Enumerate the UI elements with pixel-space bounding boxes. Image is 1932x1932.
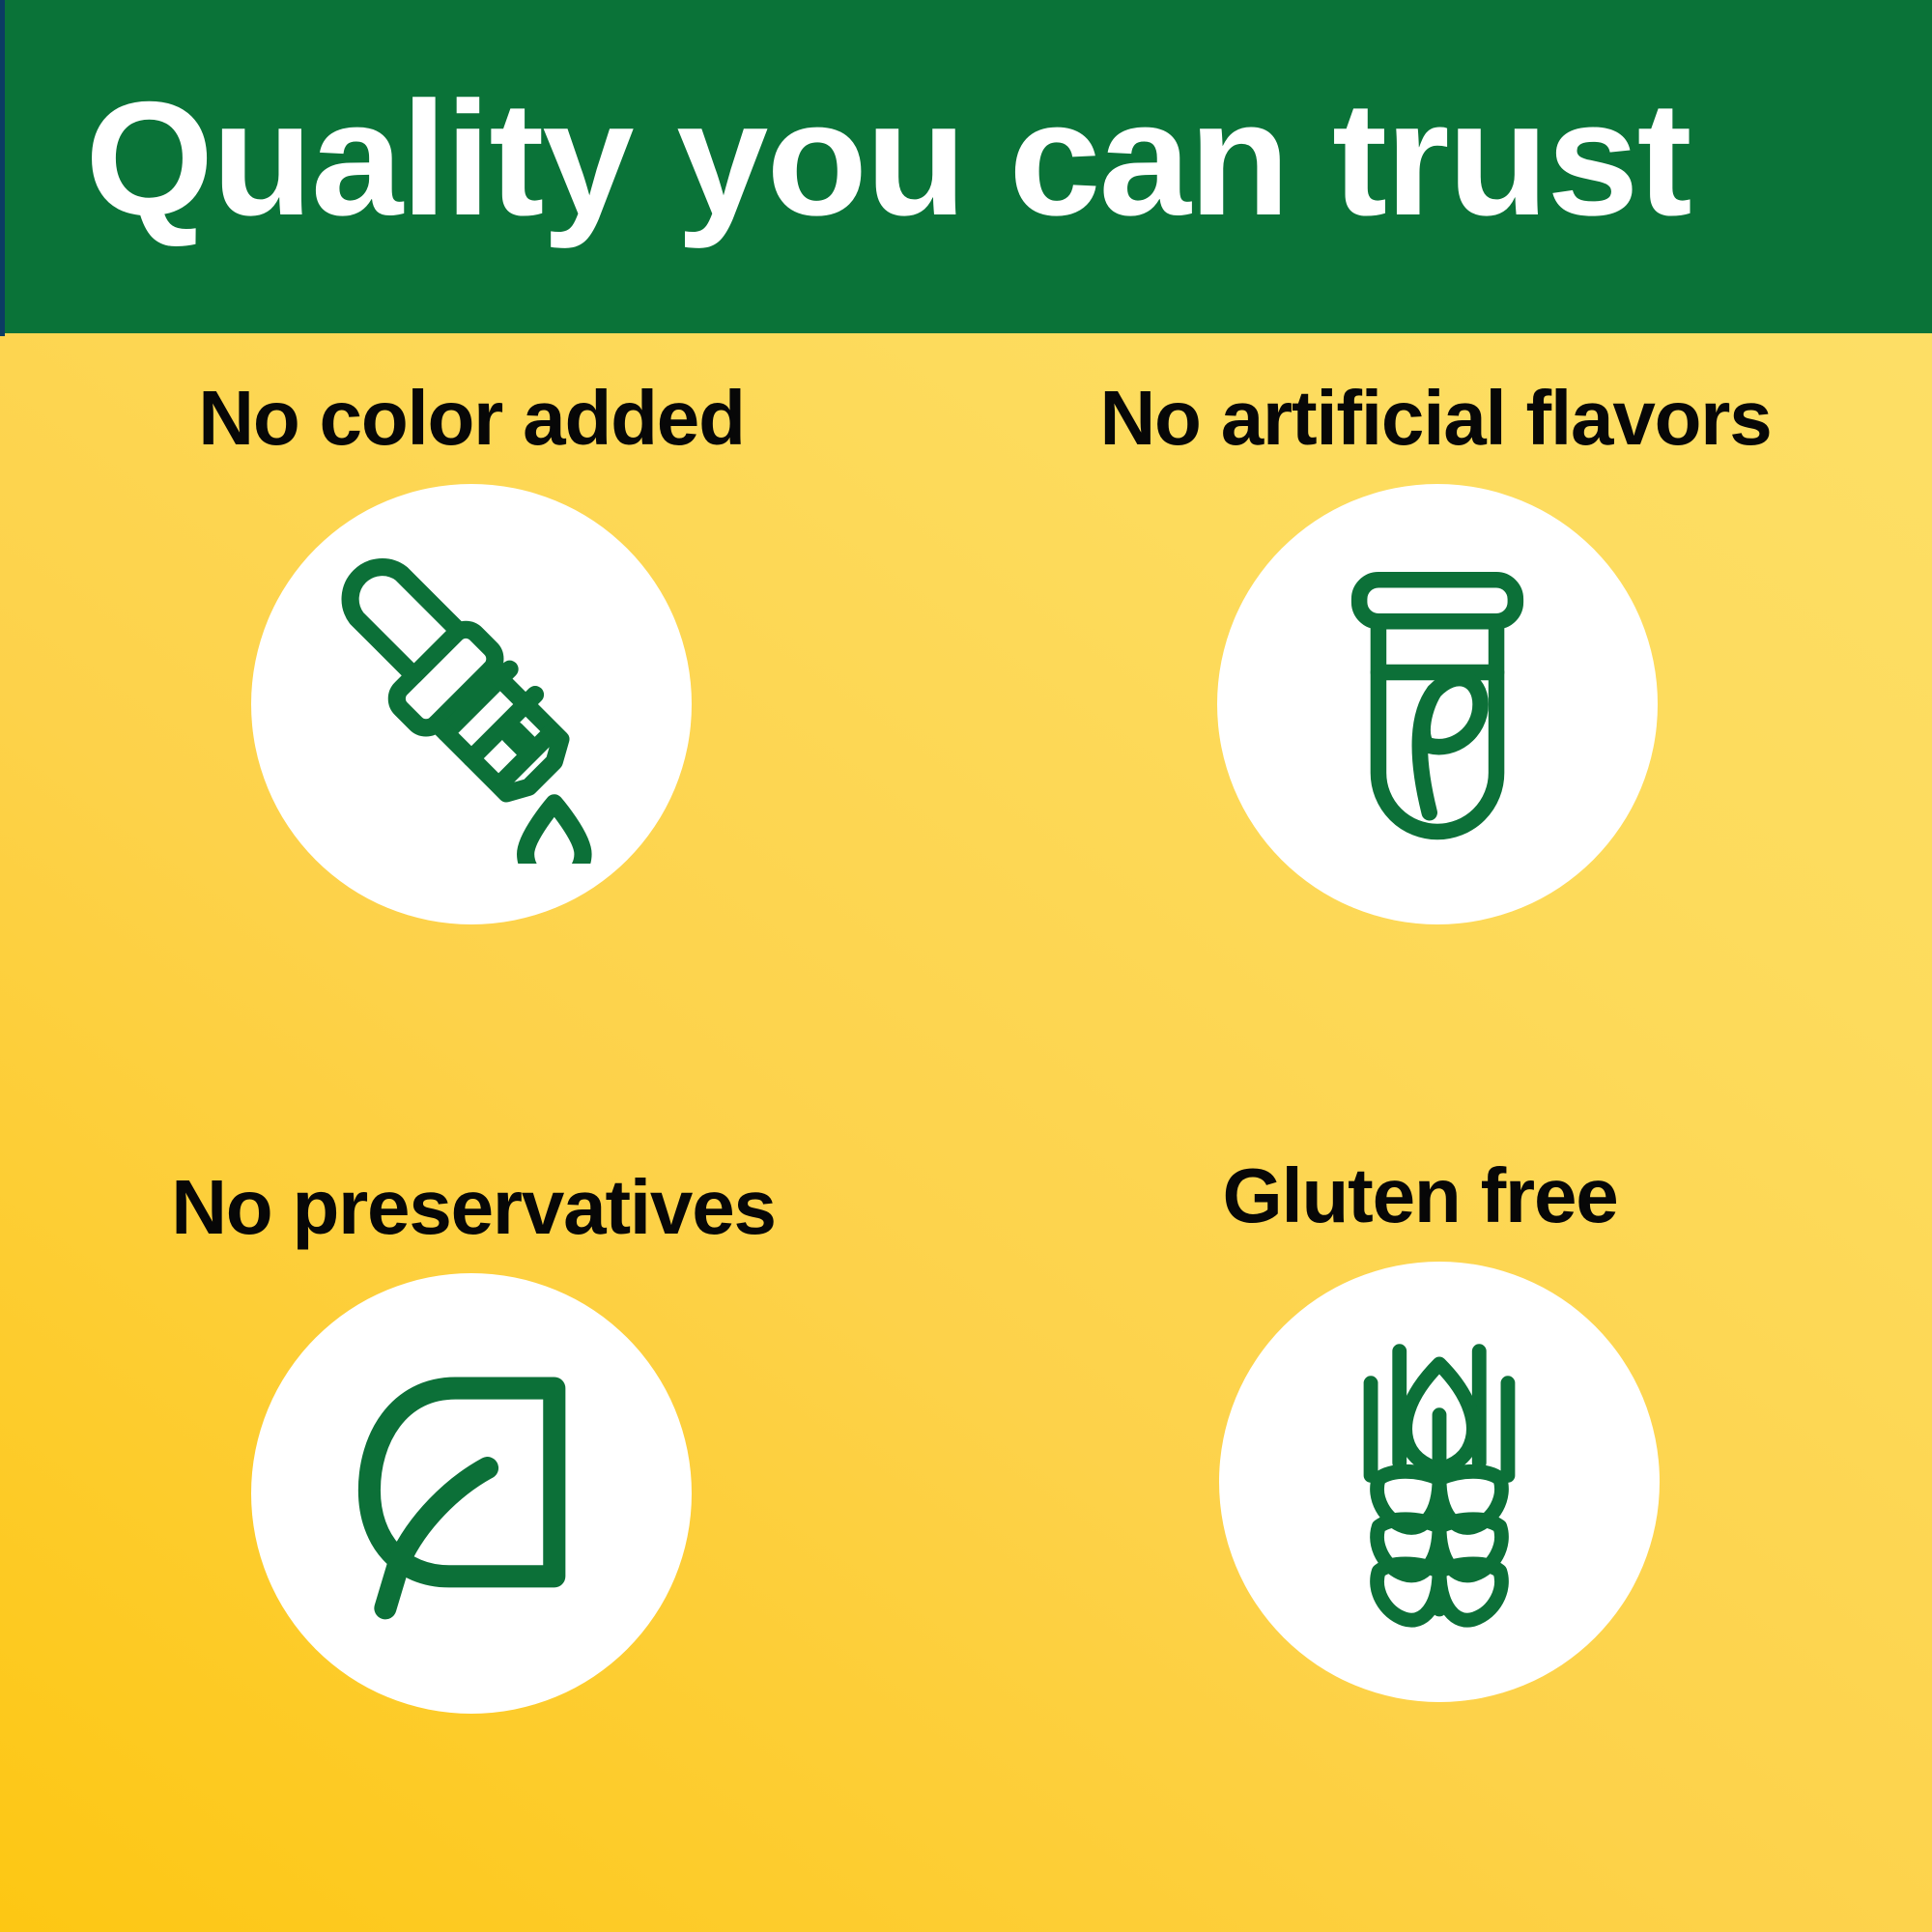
- badge-label-no-preservatives: No preservatives: [171, 1169, 776, 1246]
- wheat-stalk-icon: [1280, 1322, 1599, 1641]
- badge-no-preservatives: No preservatives: [0, 1133, 966, 1932]
- badge-icon-circle-no-artificial-flavors: [1217, 484, 1658, 924]
- badge-label-gluten-free: Gluten free: [1222, 1157, 1617, 1235]
- badge-icon-circle-no-preservatives: [251, 1273, 692, 1714]
- header-banner: Quality you can trust: [0, 0, 1932, 333]
- badge-icon-circle-gluten-free: [1219, 1262, 1660, 1702]
- leaf-icon: [312, 1334, 631, 1653]
- quality-claims-graphic: Quality you can trust No color added: [0, 0, 1932, 1932]
- left-edge-strip: [0, 0, 5, 336]
- badge-no-artificial-flavors: No artificial flavors: [966, 333, 1932, 1133]
- badge-icon-circle-no-color-added: [251, 484, 692, 924]
- badge-no-color-added: No color added: [0, 333, 966, 1133]
- badge-label-no-color-added: No color added: [198, 380, 744, 457]
- test-tube-leaf-icon: [1278, 545, 1597, 864]
- badge-grid: No color added: [0, 333, 1932, 1932]
- dropper-icon: [312, 545, 631, 864]
- badge-label-no-artificial-flavors: No artificial flavors: [1099, 380, 1771, 457]
- badge-gluten-free: Gluten free: [966, 1133, 1932, 1932]
- page-title: Quality you can trust: [85, 77, 1690, 240]
